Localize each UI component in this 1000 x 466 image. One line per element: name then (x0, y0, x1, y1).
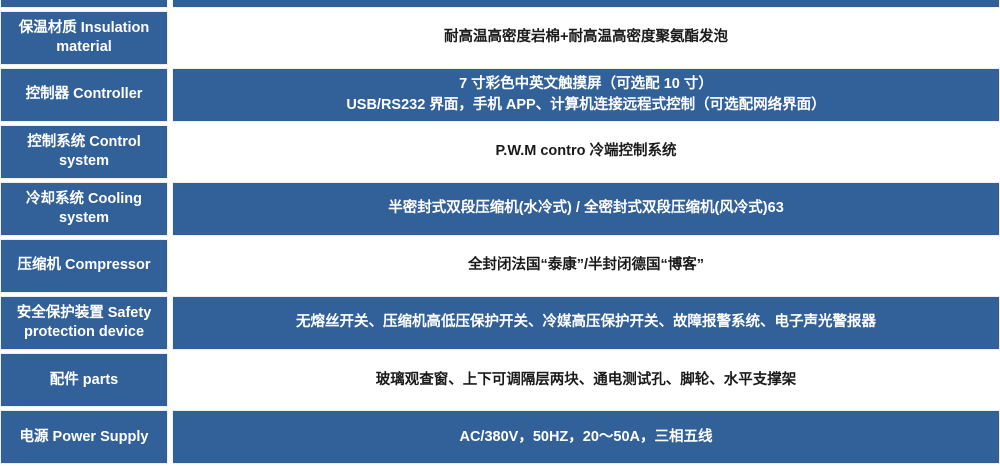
table-cell-value-line: 全封闭法国“泰康”/半封闭德国“博客” (468, 255, 704, 276)
table-cell-value-text: 7 寸彩色中英文触摸屏（可选配 10 寸）USB/RS232 界面，手机 APP… (346, 74, 825, 116)
table-cell-label: 电源 Power Supply (0, 410, 168, 464)
table-cell-label-text: 配件 parts (50, 371, 119, 390)
table-cell-value: 全封闭法国“泰康”/半封闭德国“博客” (172, 239, 1000, 293)
table-cell-label: 保温材质 Insulation material (0, 11, 168, 65)
table-row: 控制系统 Control systemP.W.M contro 冷端控制系统 (0, 123, 1000, 180)
table-cell-value-text: 玻璃观查窗、上下可调隔层两块、通电测试孔、脚轮、水平支撑架 (376, 370, 797, 391)
table-cell-value: AC/380V，50HZ，20～50A，三相五线 (172, 410, 1000, 464)
table-body: 保温材质 Insulation material耐高温高密度岩棉+耐高温高密度聚… (0, 9, 1000, 466)
table-cell-value-text: 全封闭法国“泰康”/半封闭德国“博客” (468, 255, 704, 276)
table-cell-label-text: 控制器 Controller (26, 85, 143, 104)
table-cell-value-partial (172, 0, 1000, 8)
table-cell-value-line: 半密封式双段压缩机(水冷式) / 全密封式双段压缩机(风冷式)63 (388, 198, 784, 219)
table-row: 安全保护装置 Safety protection device无熔丝开关、压缩机… (0, 294, 1000, 351)
table-cell-label-text: 保温材质 Insulation material (5, 19, 163, 57)
table-cell-value: 7 寸彩色中英文触摸屏（可选配 10 寸）USB/RS232 界面，手机 APP… (172, 68, 1000, 122)
table-cell-value-line: 玻璃观查窗、上下可调隔层两块、通电测试孔、脚轮、水平支撑架 (376, 370, 797, 391)
table-cell-value-text: 半密封式双段压缩机(水冷式) / 全密封式双段压缩机(风冷式)63 (388, 198, 784, 219)
table-cell-value: P.W.M contro 冷端控制系统 (172, 125, 1000, 179)
table-row-partial-top (0, 0, 1000, 9)
table-cell-value: 无熔丝开关、压缩机高低压保护开关、冷媒高压保护开关、故障报警系统、电子声光警报器 (172, 296, 1000, 350)
table-cell-label-partial (0, 0, 168, 8)
table-cell-value-line: 耐高温高密度岩棉+耐高温高密度聚氨酯发泡 (444, 27, 728, 48)
table-cell-label: 冷却系统 Cooling system (0, 182, 168, 236)
table-cell-value-line: P.W.M contro 冷端控制系统 (496, 141, 677, 162)
table-cell-value-line: 7 寸彩色中英文触摸屏（可选配 10 寸） (346, 74, 825, 95)
table-cell-value-text: P.W.M contro 冷端控制系统 (496, 141, 677, 162)
table-cell-label-text: 控制系统 Control system (5, 133, 163, 171)
table-cell-label: 压缩机 Compressor (0, 239, 168, 293)
table-row: 电源 Power SupplyAC/380V，50HZ，20～50A，三相五线 (0, 409, 1000, 466)
table-cell-label: 控制器 Controller (0, 68, 168, 122)
table-row: 控制器 Controller7 寸彩色中英文触摸屏（可选配 10 寸）USB/R… (0, 66, 1000, 123)
specification-table: 保温材质 Insulation material耐高温高密度岩棉+耐高温高密度聚… (0, 0, 1000, 466)
table-cell-label: 配件 parts (0, 353, 168, 407)
table-cell-value-text: 耐高温高密度岩棉+耐高温高密度聚氨酯发泡 (444, 27, 728, 48)
table-cell-label: 安全保护装置 Safety protection device (0, 296, 168, 350)
table-cell-label-text: 压缩机 Compressor (18, 256, 151, 275)
table-cell-value-line: 无熔丝开关、压缩机高低压保护开关、冷媒高压保护开关、故障报警系统、电子声光警报器 (296, 312, 876, 333)
table-cell-value: 玻璃观查窗、上下可调隔层两块、通电测试孔、脚轮、水平支撑架 (172, 353, 1000, 407)
table-cell-label-text: 电源 Power Supply (20, 428, 149, 447)
table-row: 保温材质 Insulation material耐高温高密度岩棉+耐高温高密度聚… (0, 9, 1000, 66)
table-row: 冷却系统 Cooling system半密封式双段压缩机(水冷式) / 全密封式… (0, 180, 1000, 237)
table-cell-label: 控制系统 Control system (0, 125, 168, 179)
table-row: 配件 parts玻璃观查窗、上下可调隔层两块、通电测试孔、脚轮、水平支撑架 (0, 352, 1000, 409)
table-row: 压缩机 Compressor全封闭法国“泰康”/半封闭德国“博客” (0, 237, 1000, 294)
table-cell-value-line: USB/RS232 界面，手机 APP、计算机连接远程式控制（可选配网络界面） (346, 95, 825, 116)
table-cell-value-text: 无熔丝开关、压缩机高低压保护开关、冷媒高压保护开关、故障报警系统、电子声光警报器 (296, 312, 876, 333)
table-cell-value-text: AC/380V，50HZ，20～50A，三相五线 (459, 427, 712, 448)
table-cell-label-text: 安全保护装置 Safety protection device (5, 304, 163, 342)
table-cell-value: 耐高温高密度岩棉+耐高温高密度聚氨酯发泡 (172, 11, 1000, 65)
table-cell-value: 半密封式双段压缩机(水冷式) / 全密封式双段压缩机(风冷式)63 (172, 182, 1000, 236)
table-cell-value-line: AC/380V，50HZ，20～50A，三相五线 (459, 427, 712, 448)
table-cell-label-text: 冷却系统 Cooling system (5, 190, 163, 228)
